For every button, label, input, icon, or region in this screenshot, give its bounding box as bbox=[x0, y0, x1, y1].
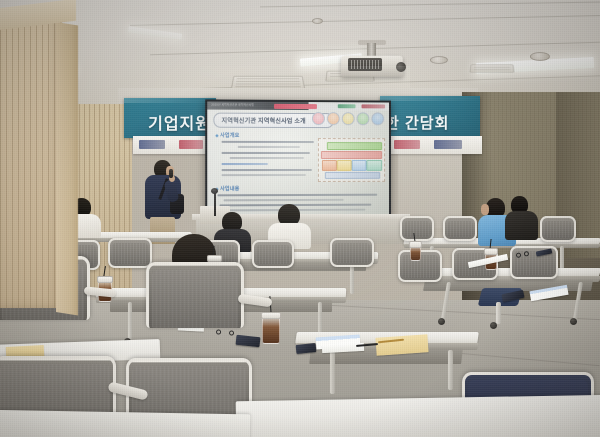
projector-body bbox=[348, 58, 382, 71]
attendee-face bbox=[481, 204, 489, 215]
chair bbox=[443, 216, 477, 241]
foreground-table bbox=[236, 395, 600, 437]
chair bbox=[330, 238, 374, 267]
slide-section-heading-1: 사업개요 bbox=[215, 132, 239, 139]
iced-coffee-cup bbox=[410, 241, 419, 259]
foreground-table bbox=[0, 410, 250, 437]
slide-logo-icon bbox=[362, 104, 386, 108]
diagram-box-3 bbox=[352, 160, 367, 171]
diagram-box-2 bbox=[337, 160, 352, 171]
slide-icon-group bbox=[312, 112, 384, 125]
projector-lens bbox=[396, 62, 406, 72]
slide-logo-icon bbox=[338, 104, 356, 108]
banner-left: 기업지원 bbox=[124, 98, 216, 138]
slide-circle-icon-5 bbox=[371, 112, 384, 125]
wood-column-side bbox=[56, 22, 78, 315]
attendee-torso bbox=[505, 211, 538, 240]
sunglasses bbox=[216, 329, 234, 337]
chair bbox=[540, 216, 576, 242]
projection-screen-frame: 2025년 지역혁신기관 지역혁신사업 지역혁신기관 지역혁신사업 소개 사업개… bbox=[205, 99, 391, 218]
banner-left-text: 기업지원 bbox=[148, 110, 211, 134]
chair bbox=[400, 216, 434, 241]
diagram-top-bar bbox=[327, 142, 382, 150]
slide-section-heading-2: 사업내용 bbox=[215, 185, 239, 192]
slide-header-highlight bbox=[273, 103, 317, 108]
sponsor-logo-icon bbox=[434, 140, 462, 149]
diagram-second-bar bbox=[321, 151, 382, 159]
slide-circle-icon-1 bbox=[312, 112, 325, 125]
projection-screen: 2025년 지역혁신기관 지역혁신사업 지역혁신기관 지역혁신사업 소개 사업개… bbox=[207, 101, 389, 216]
handheld-microphone-icon bbox=[169, 169, 173, 178]
foreground-chair bbox=[146, 262, 244, 328]
slide-flow-diagram bbox=[318, 138, 385, 182]
sponsor-logo-icon bbox=[139, 140, 165, 149]
sponsor-logo-icon bbox=[179, 140, 203, 149]
sponsor-logo-strip-right bbox=[386, 136, 482, 154]
diagram-footer-bar bbox=[325, 172, 380, 179]
wood-slat-column bbox=[0, 8, 62, 308]
photo-scene: 기업지원 한 간담회 2025년 지역혁신기관 지역혁신사업 지역혁신기관 지역… bbox=[0, 0, 600, 437]
banner-right: 한 간담회 bbox=[380, 96, 480, 138]
diagram-box-1 bbox=[322, 160, 337, 171]
slide-title-text: 지역혁신기관 지역혁신사업 소개 bbox=[214, 116, 305, 125]
slide-header-label: 2025년 지역혁신기관 지역혁신사업 bbox=[211, 102, 254, 106]
slide-circle-icon-2 bbox=[327, 112, 340, 125]
slide-header-bar: 2025년 지역혁신기관 지역혁신사업 bbox=[207, 101, 389, 110]
ceiling-speaker bbox=[430, 56, 448, 64]
chair-post bbox=[496, 302, 501, 324]
sponsor-logo-icon bbox=[394, 140, 420, 149]
banner-right-text: 한 간담회 bbox=[385, 112, 449, 133]
slide-circle-icon-4 bbox=[357, 112, 370, 125]
slide-circle-icon-3 bbox=[342, 112, 355, 125]
chair-caster bbox=[490, 322, 497, 329]
ceiling-air-vent bbox=[469, 64, 514, 72]
ceiling-speaker bbox=[530, 52, 550, 61]
ceiling-sensor bbox=[312, 18, 323, 24]
diagram-box-4 bbox=[366, 160, 382, 171]
chair bbox=[252, 240, 294, 268]
kraft-envelope bbox=[375, 334, 428, 356]
microphone-head-icon bbox=[211, 188, 218, 194]
attendee-dark-shirt bbox=[505, 196, 539, 240]
iced-coffee-cup bbox=[262, 312, 278, 342]
